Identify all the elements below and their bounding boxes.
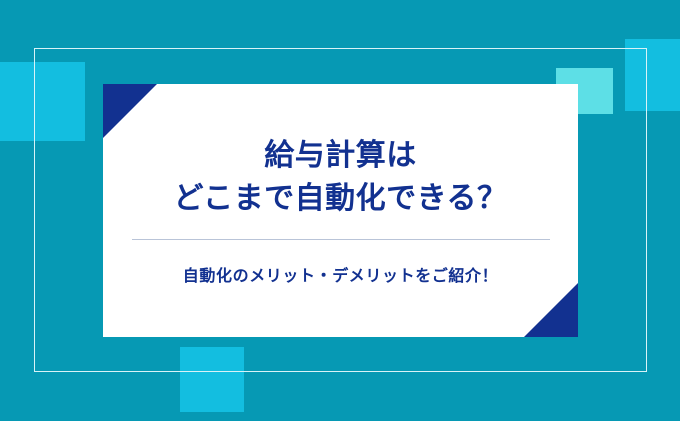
page-title-line-1: 給与計算は [264, 139, 417, 172]
card-content: 給与計算は どこまで自動化できる？ 自動化のメリット・デメリットをご紹介！ [103, 84, 578, 337]
title-divider [132, 239, 550, 240]
page-subtitle: 自動化のメリット・デメリットをご紹介！ [183, 262, 498, 286]
decorative-square-left [0, 62, 85, 141]
title-banner: 給与計算は どこまで自動化できる？ 自動化のメリット・デメリットをご紹介！ [0, 0, 680, 421]
page-title: 給与計算は どこまで自動化できる？ [174, 135, 508, 220]
page-title-line-2: どこまで自動化できる？ [174, 178, 508, 221]
content-card: 給与計算は どこまで自動化できる？ 自動化のメリット・デメリットをご紹介！ [103, 84, 578, 337]
decorative-square-bottom-left [180, 347, 244, 412]
decorative-square-top-right [625, 39, 680, 111]
